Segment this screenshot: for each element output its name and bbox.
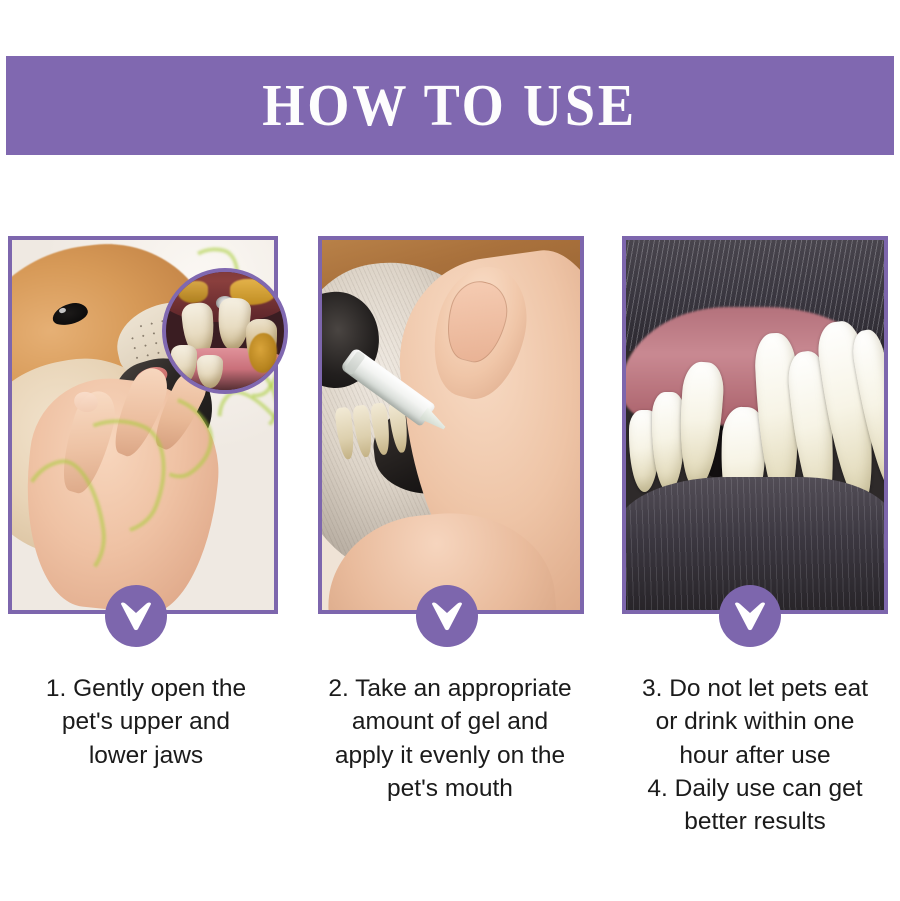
caption-line: lower jaws <box>6 739 286 772</box>
step-1-caption: 1. Gently open the pet's upper and lower… <box>6 672 286 772</box>
caption-line: 3. Do not let pets eat <box>612 672 898 705</box>
step-3-image-panel <box>622 236 888 614</box>
chevron-down-icon <box>430 601 464 631</box>
caption-line: 4. Daily use can get <box>612 772 898 805</box>
step-2-photo <box>322 240 580 610</box>
caption-line: apply it evenly on the <box>300 739 600 772</box>
step-3-photo <box>626 240 884 610</box>
tartar-teeth-inset <box>162 268 288 394</box>
caption-line: or drink within one <box>612 705 898 738</box>
caption-line: pet's mouth <box>300 772 600 805</box>
step-1-chevron-badge <box>105 585 167 647</box>
caption-line: hour after use <box>612 739 898 772</box>
chevron-down-icon <box>733 601 767 631</box>
caption-line: 2. Take an appropriate <box>300 672 600 705</box>
step-3-caption: 3. Do not let pets eat or drink within o… <box>612 672 898 839</box>
caption-line: better results <box>612 805 898 838</box>
inset-tartar-patch <box>178 281 209 302</box>
caption-line: 1. Gently open the <box>6 672 286 705</box>
how-to-use-infographic: HOW TO USE <box>0 0 900 901</box>
step-2-caption: 2. Take an appropriate amount of gel and… <box>300 672 600 805</box>
step-2-chevron-badge <box>416 585 478 647</box>
caption-line: pet's upper and <box>6 705 286 738</box>
step-3-chevron-badge <box>719 585 781 647</box>
caption-line: amount of gel and <box>300 705 600 738</box>
step-2-image-panel <box>318 236 584 614</box>
chevron-down-icon <box>119 601 153 631</box>
